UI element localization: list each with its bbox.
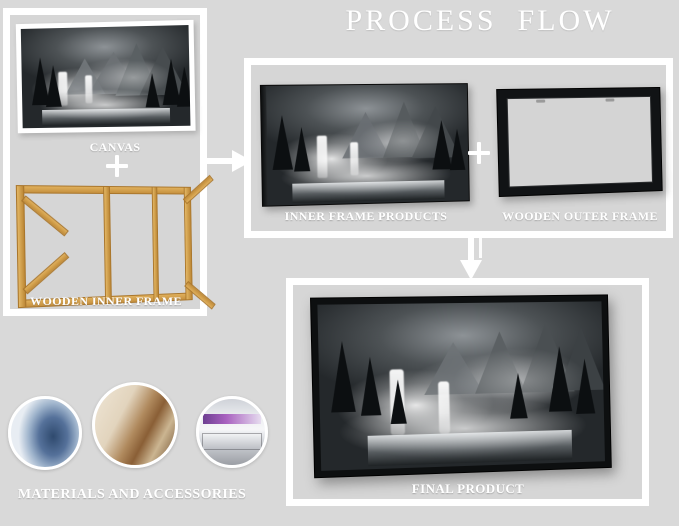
canvas-image: [16, 20, 196, 133]
caption-materials: MATERIALS AND ACCESSORIES: [8, 487, 256, 503]
printer-bed: [202, 433, 263, 450]
arrow-head: [460, 260, 482, 280]
caption-canvas: CANVAS: [50, 140, 180, 155]
final-product-image: [310, 294, 612, 478]
caption-wooden-inner-frame: WOODEN INNER FRAME: [8, 294, 204, 309]
final-artwork: [317, 301, 605, 471]
caption-inner-frame-products: INNER FRAME PRODUCTS: [256, 209, 476, 224]
inner-frame-product-image: [260, 83, 470, 207]
material-thumb-canvas-roll: [8, 396, 82, 470]
plus-icon-one: [106, 155, 128, 177]
wooden-outer-frame-image: [496, 87, 663, 197]
process-flow-diagram: PROCESS FLOW CANVAS: [0, 0, 679, 526]
caption-wooden-outer-frame: WOODEN OUTER FRAME: [487, 209, 673, 224]
printer-color-strip: [203, 414, 261, 425]
arrow-down-icon: [460, 232, 482, 280]
material-thumb-printer: [196, 396, 268, 468]
hanging-hook-left: [536, 100, 545, 103]
plus-icon-two: [468, 142, 490, 164]
material-thumb-wood-boards: [92, 382, 178, 468]
wooden-inner-frame-image: [16, 185, 193, 308]
canvas-artwork: [21, 25, 191, 128]
hanging-hook-right: [606, 98, 615, 101]
page-title: PROCESS FLOW: [300, 4, 660, 38]
frame-opening: [507, 96, 653, 188]
caption-final-product: FINAL PRODUCT: [300, 481, 636, 497]
